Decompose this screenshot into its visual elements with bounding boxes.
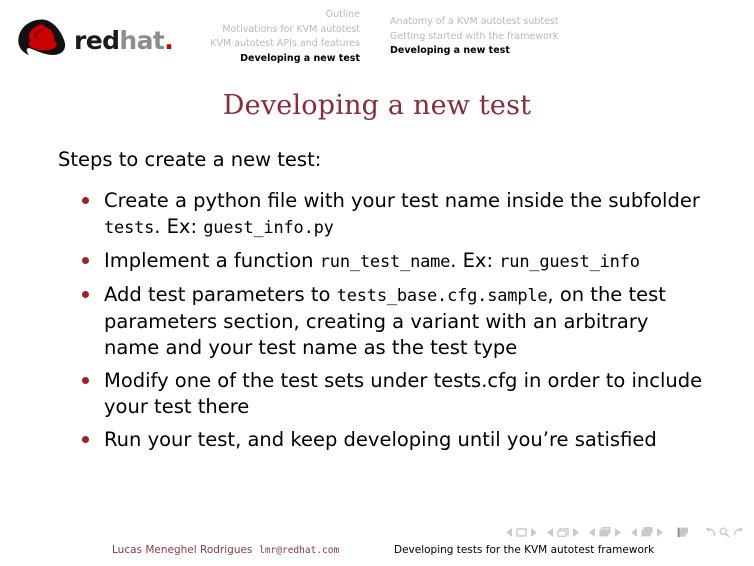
list-item: Modify one of the test sets under tests.… (104, 368, 708, 420)
footer-author-email[interactable]: lmr@redhat.com (259, 545, 339, 556)
list-item-text: Create a python file with your test name… (104, 189, 700, 238)
headline-section-motivations[interactable]: Motivations for KVM autotest (186, 23, 360, 38)
prev-frame-arrow-icon[interactable] (547, 528, 554, 537)
intro-text: Steps to create a new test: (58, 148, 754, 172)
redhat-shadowman-logo-icon (16, 18, 68, 62)
text-span: Add test parameters to (104, 283, 337, 306)
navgroup-slide (506, 528, 537, 537)
subsection-icon[interactable] (599, 527, 611, 537)
steps-list: Create a python file with your test name… (0, 188, 754, 453)
forward-icon[interactable] (733, 527, 744, 537)
headline-subsection-anatomy[interactable]: Anatomy of a KVM autotest subtest (390, 15, 559, 30)
next-section-arrow-icon[interactable] (656, 528, 663, 537)
navgroup-subsection (589, 527, 621, 537)
navgroup-history (705, 527, 744, 538)
slide-footer: Lucas Meneghel Rodrigues lmr@redhat.com … (0, 538, 754, 566)
next-subsection-arrow-icon[interactable] (614, 528, 621, 537)
text-span: Implement a function (104, 249, 320, 272)
code-span: tests (104, 218, 154, 238)
navgroup-frame (547, 528, 579, 537)
prev-section-arrow-icon[interactable] (631, 528, 638, 537)
code-span: run_guest_info (499, 252, 640, 272)
logo-word-dot: . (164, 26, 173, 55)
beamer-navigation-symbols (506, 524, 744, 540)
text-span: . Ex: (154, 215, 203, 238)
text-span: Create a python file with your test name… (104, 189, 700, 212)
slide-body: Steps to create a new test: Create a pyt… (0, 148, 754, 460)
bullet-dot-icon (82, 257, 89, 264)
list-item: Create a python file with your test name… (104, 188, 708, 241)
list-item-text: Add test parameters to tests_base.cfg.sa… (104, 283, 666, 359)
logo-word-red: red (74, 26, 119, 55)
headline-section-developing-a-new-test[interactable]: Developing a new test (186, 52, 360, 67)
footer-author: Lucas Meneghel Rodrigues lmr@redhat.com (112, 544, 339, 556)
list-item-text: Run your test, and keep developing until… (104, 428, 657, 451)
list-item-text: Implement a function run_test_name. Ex: … (104, 249, 640, 272)
list-item-text: Modify one of the test sets under tests.… (104, 369, 702, 418)
section-icon[interactable] (641, 527, 653, 537)
slide-header: redhat. Outline Motivations for KVM auto… (0, 0, 754, 76)
bullet-dot-icon (82, 377, 89, 384)
text-span: Modify one of the test sets under tests.… (104, 369, 702, 418)
navgroup-section (631, 527, 663, 537)
prev-subsection-arrow-icon[interactable] (589, 528, 596, 537)
logo-word-hat: hat (119, 26, 164, 55)
headline-section-outline[interactable]: Outline (186, 8, 360, 23)
redhat-logo: redhat. (16, 18, 166, 64)
frame-icon[interactable] (557, 528, 569, 537)
bullet-dot-icon (82, 291, 89, 298)
search-icon[interactable] (719, 527, 730, 538)
headline-subsections: Anatomy of a KVM autotest subtest Gettin… (390, 15, 559, 59)
redhat-wordmark: redhat. (74, 28, 173, 53)
text-span: Run your test, and keep developing until… (104, 428, 657, 451)
frame-title: Developing a new test (0, 90, 754, 121)
next-frame-arrow-icon[interactable] (572, 528, 579, 537)
slide-icon[interactable] (516, 528, 527, 537)
text-span: . Ex: (450, 249, 499, 272)
code-span: run_test_name (320, 252, 450, 272)
list-item: Implement a function run_test_name. Ex: … (104, 248, 708, 275)
headline-subsection-getting-started[interactable]: Getting started with the framework (390, 30, 559, 45)
list-item: Add test parameters to tests_base.cfg.sa… (104, 282, 708, 361)
list-item: Run your test, and keep developing until… (104, 427, 708, 453)
headline-section-apis[interactable]: KVM autotest APIs and features (186, 37, 360, 52)
bullet-dot-icon (82, 197, 89, 204)
prev-slide-arrow-icon[interactable] (506, 528, 513, 537)
presentation-icon[interactable] (677, 527, 689, 538)
footer-author-name: Lucas Meneghel Rodrigues (112, 544, 252, 556)
headline-sections: Outline Motivations for KVM autotest KVM… (186, 8, 360, 66)
next-slide-arrow-icon[interactable] (530, 528, 537, 537)
code-span: guest_info.py (203, 218, 333, 238)
headline-subsection-developing-a-new-test[interactable]: Developing a new test (390, 44, 559, 59)
code-span: tests_base.cfg.sample (337, 286, 548, 306)
back-icon[interactable] (705, 527, 716, 537)
footer-presentation-title: Developing tests for the KVM autotest fr… (394, 544, 654, 556)
bullet-dot-icon (82, 436, 89, 443)
